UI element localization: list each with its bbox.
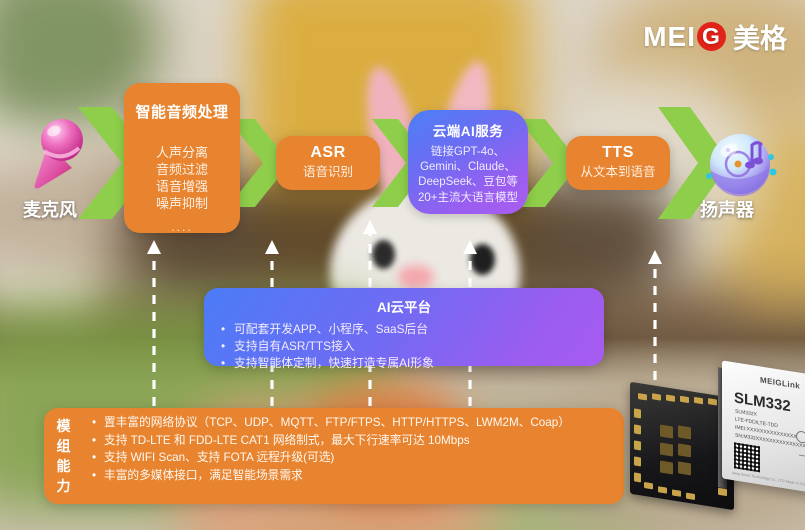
mod-ch-2: 组 xyxy=(44,437,84,457)
module-bullet-4: 丰富的多媒体接口，满足智能场景需求 xyxy=(104,467,624,485)
cloud-line-1: 链接GPT-4o、 xyxy=(411,145,525,160)
module-bullet-1: 置丰富的网络协议（TCP、UDP、MQTT、FTP/FTPS、HTTP/HTTP… xyxy=(104,414,624,432)
card-tts-title: TTS xyxy=(566,144,670,162)
audio-line-3: 语音增强 xyxy=(130,178,234,195)
card-asr-subtitle: 语音识别 xyxy=(276,164,380,181)
platform-bullet-1: 可配套开发APP、小程序、SaaS后台 xyxy=(234,321,604,338)
speaker-icon xyxy=(702,126,778,207)
card-asr[interactable]: ASR 语音识别 xyxy=(276,136,380,190)
dashed-arrow-audio xyxy=(144,238,164,415)
card-cloud-ai-service[interactable]: 云端AI服务 链接GPT-4o、 Gemini、Claude、 DeepSeek… xyxy=(408,110,528,214)
chip-footer-left: Meig Smart Technology Co., LTD xyxy=(732,471,785,483)
card-audio-title: 智能音频处理 xyxy=(130,101,234,122)
mod-ch-4: 力 xyxy=(44,477,84,497)
cloud-line-3: DeepSeek、豆包等 xyxy=(411,175,525,190)
cloud-line-4: 20+主流大语言模型 xyxy=(411,191,525,206)
card-cloud-title: 云端AI服务 xyxy=(408,120,528,140)
card-tts[interactable]: TTS 从文本到语音 xyxy=(566,136,670,190)
chip-footer-right: Made in China xyxy=(786,480,805,488)
logo-chinese-name: 美格 xyxy=(733,17,787,56)
audio-line-4: 噪声抑制 xyxy=(130,195,234,212)
logo-text: MEI xyxy=(643,21,696,53)
cloud-line-2: Gemini、Claude、 xyxy=(411,160,525,175)
audio-ellipsis: .... xyxy=(130,220,234,234)
card-asr-title: ASR xyxy=(276,144,380,162)
card-cloud-lines: 链接GPT-4o、 Gemini、Claude、 DeepSeek、豆包等 20… xyxy=(408,145,528,206)
chip-brand: MEIGLink xyxy=(760,375,800,390)
speaker-label: 扬声器 xyxy=(700,196,754,222)
card-tts-subtitle: 从文本到语音 xyxy=(566,164,670,181)
mod-ch-3: 能 xyxy=(44,457,84,477)
platform-bullet-3: 支持智能体定制，快速打造专属AI形象 xyxy=(234,355,604,372)
module-bullet-3: 支持 WIFI Scan、支持 FOTA 远程升级(可选) xyxy=(104,449,624,467)
microphone-icon xyxy=(22,110,112,205)
microphone-label: 麦克风 xyxy=(23,196,77,222)
audio-line-2: 音频过滤 xyxy=(130,161,234,178)
chip-qr-code xyxy=(734,442,760,472)
card-audio-lines: 人声分离 音频过滤 语音增强 噪声抑制 xyxy=(130,144,234,213)
logo-wordmark: MEI G xyxy=(643,21,726,53)
platform-bullet-2: 支持自有ASR/TTS接入 xyxy=(234,338,604,355)
chip-front-label: MEIGLink SLM332 SLM332X LTE-FDD/LTE-TDD … xyxy=(722,360,805,493)
card-ai-cloud-platform[interactable]: AI云平台 可配套开发APP、小程序、SaaS后台 支持自有ASR/TTS接入 … xyxy=(204,288,604,366)
mod-ch-1: 模 xyxy=(44,417,84,437)
infographic-canvas: 麦克风 扬声器 智能音频处理 xyxy=(0,0,805,530)
module-bullet-list: 置丰富的网络协议（TCP、UDP、MQTT、FTP/FTPS、HTTP/HTTP… xyxy=(84,414,624,504)
logo-g-mark: G xyxy=(697,22,726,51)
audio-line-1: 人声分离 xyxy=(130,144,234,161)
module-chip-photo: MEIGLink SLM332 SLM332X LTE-FDD/LTE-TDD … xyxy=(630,360,805,530)
platform-title: AI云平台 xyxy=(204,288,604,316)
meig-logo: MEI G 美格 xyxy=(643,17,787,56)
chip-hourglass-mark xyxy=(799,449,805,463)
module-bullet-2: 支持 TD-LTE 和 FDD-LTE CAT1 网络制式，最大下行速率可达 1… xyxy=(104,432,624,450)
module-capability-label: 模 组 能 力 xyxy=(44,408,84,504)
card-audio-processing[interactable]: 智能音频处理 人声分离 音频过滤 语音增强 噪声抑制 .... xyxy=(124,83,240,233)
platform-bullet-list: 可配套开发APP、小程序、SaaS后台 支持自有ASR/TTS接入 支持智能体定… xyxy=(204,321,604,372)
card-module-capability[interactable]: 模 组 能 力 置丰富的网络协议（TCP、UDP、MQTT、FTP/FTPS、H… xyxy=(44,408,624,504)
